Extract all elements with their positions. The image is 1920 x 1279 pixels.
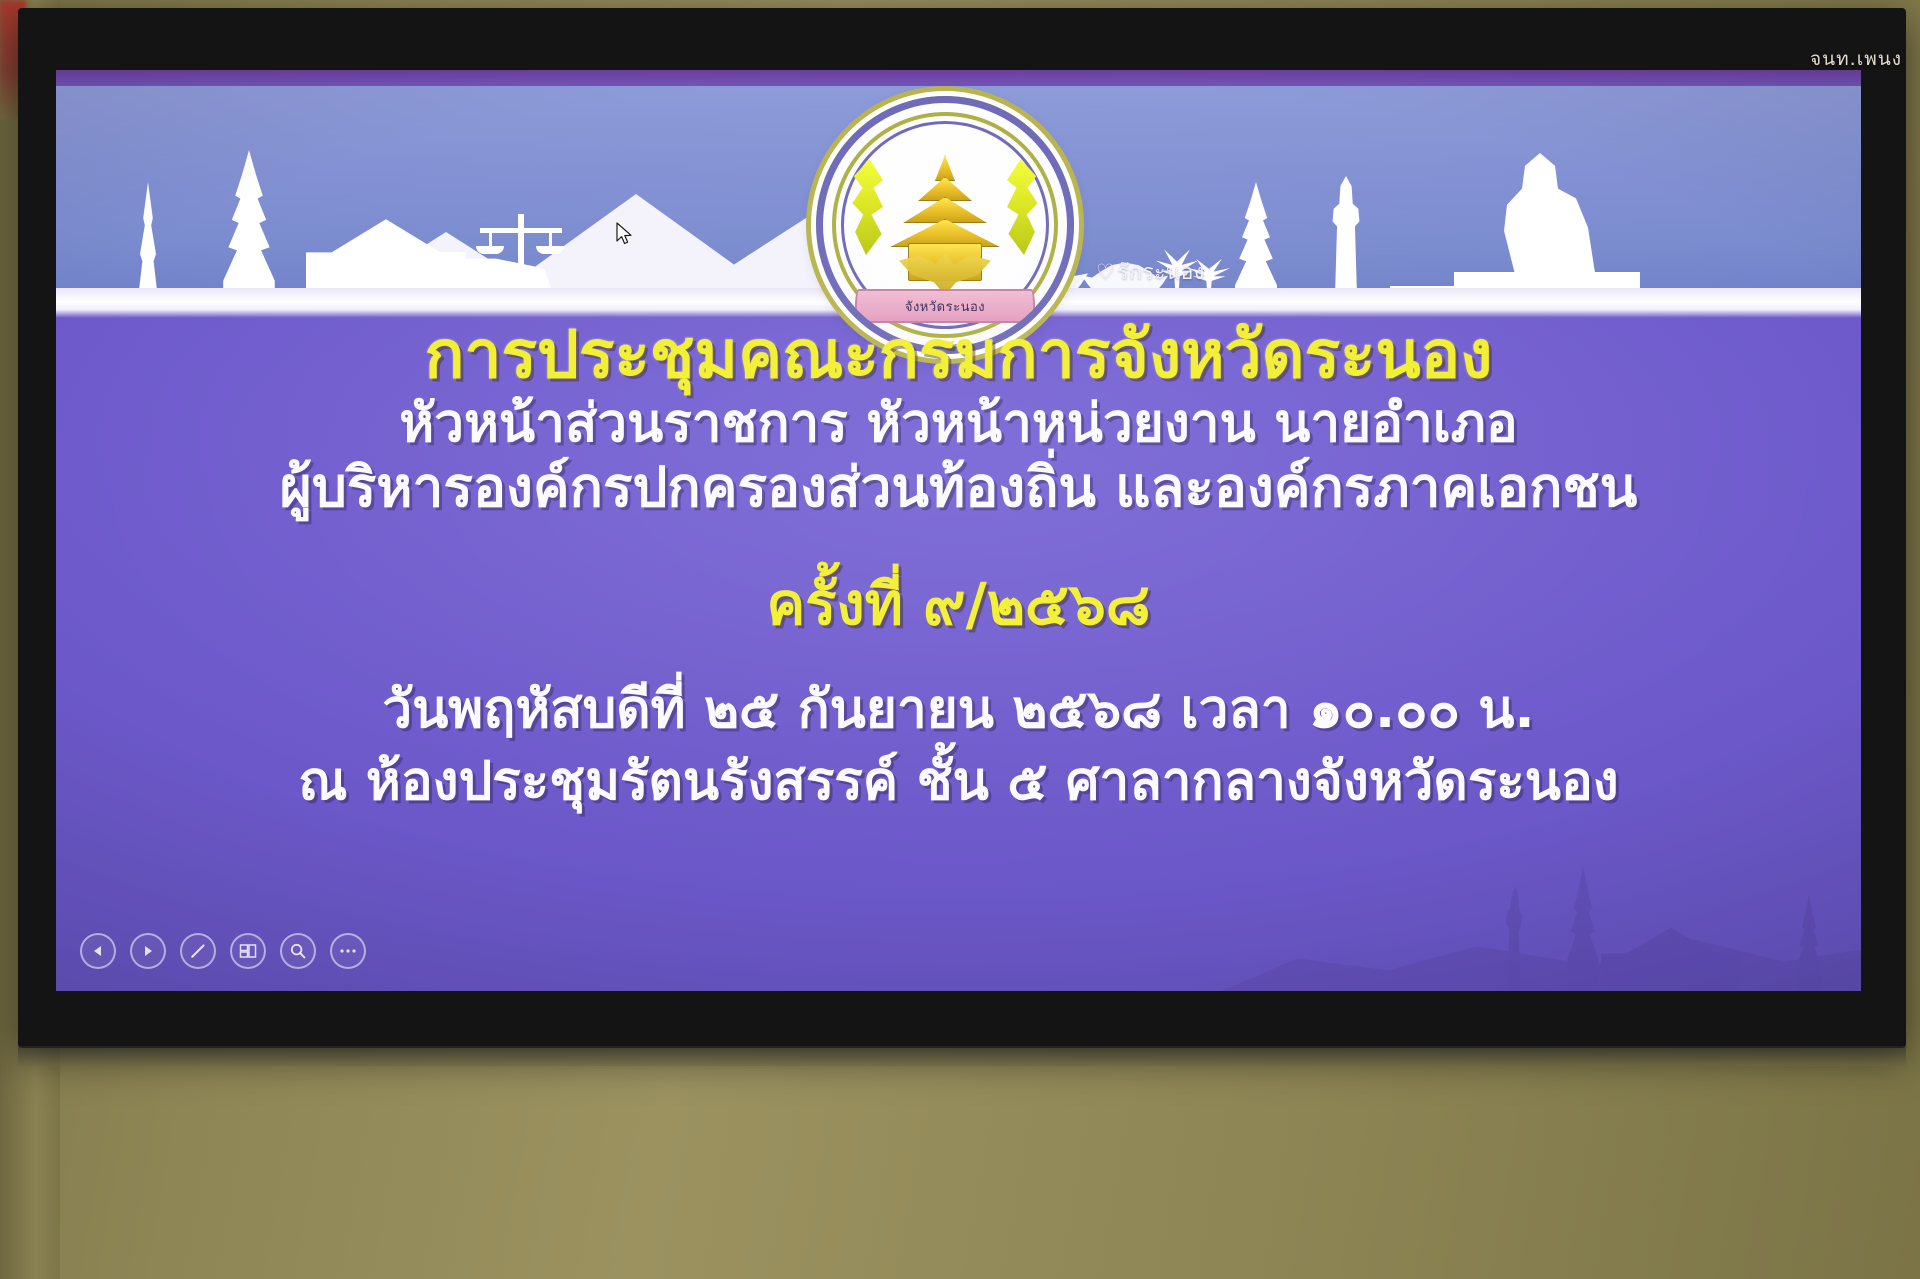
projected-slide-area[interactable]: ♡รักระนอง จังห: [56, 70, 1861, 991]
presentation-slide: ♡รักระนอง จังห: [56, 70, 1861, 991]
banner-top-strip: [56, 70, 1861, 86]
pen-icon: [189, 942, 207, 960]
ellipsis-icon: [339, 948, 357, 954]
previous-slide-button[interactable]: [80, 933, 116, 969]
zoom-button[interactable]: [280, 933, 316, 969]
province-tagline-label: รักระนอง: [1117, 260, 1204, 284]
heart-icon: ♡: [1096, 260, 1115, 284]
magnifier-icon: [289, 942, 307, 960]
slide-subtitle-1: หัวหน้าส่วนราชการ หัวหน้าหน่วยงาน นายอำเ…: [56, 396, 1861, 452]
slide-title: การประชุมคณะกรมการจังหวัดระนอง: [56, 320, 1861, 390]
projector-screen-frame: ♡รักระนอง จังห: [18, 8, 1906, 1048]
triangle-right-icon: [141, 944, 155, 958]
mouse-cursor: [616, 222, 634, 248]
more-options-button[interactable]: [330, 933, 366, 969]
province-tagline: ♡รักระนอง: [1096, 256, 1205, 289]
pen-tool-button[interactable]: [180, 933, 216, 969]
slide-occasion: ครั้งที่ ๙/๒๕๖๘: [56, 574, 1861, 635]
presentation-toolbar[interactable]: [80, 933, 366, 969]
next-slide-button[interactable]: [130, 933, 166, 969]
footer-hall-silhouette: [1601, 919, 1741, 991]
grid-slides-icon: [239, 943, 257, 959]
slide-venue: ณ ห้องประชุมรัตนรังสรรค์ ชั้น ๕ ศาลากลาง…: [56, 754, 1861, 810]
slide-footer-decoration: [1221, 831, 1861, 991]
triangle-left-icon: [91, 944, 105, 958]
slide-datetime: วันพฤหัสบดีที่ ๒๕ กันยายน ๒๕๖๘ เวลา ๑๐.๐…: [56, 682, 1861, 738]
corner-overlay-text: จนท.เพนง: [1810, 44, 1902, 74]
seal-caption-label: จังหวัดระนอง: [905, 296, 985, 317]
slide-subtitle-2: ผู้บริหารองค์กรปกครองส่วนท้องถิ่น และองค…: [56, 458, 1861, 516]
all-slides-button[interactable]: [230, 933, 266, 969]
footer-hill-silhouette: [1221, 905, 1861, 991]
slide-text-block: การประชุมคณะกรมการจังหวัดระนอง หัวหน้าส่…: [56, 320, 1861, 810]
